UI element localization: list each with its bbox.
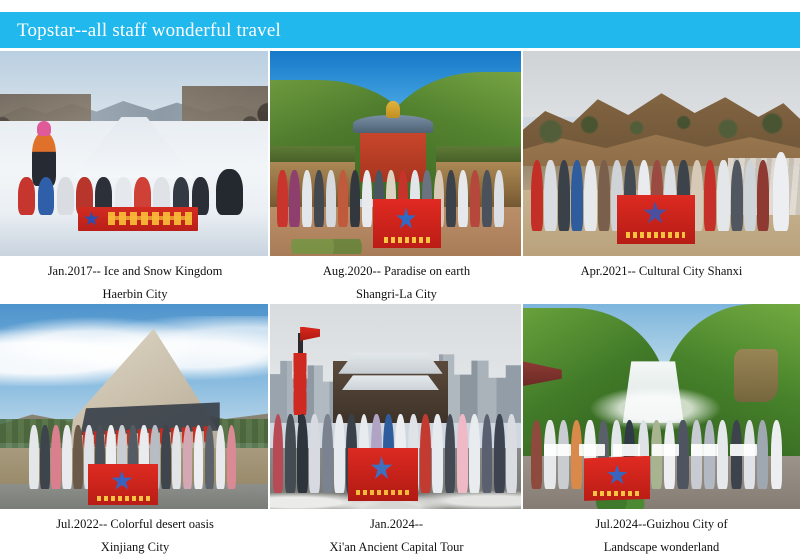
caption-xian-2024: Jan.2024-- Xi'an Ancient Capital Tour — [270, 509, 523, 557]
caption-guizhou-2024: Jul.2024--Guizhou City of Landscape wond… — [523, 509, 800, 557]
caption-line-2: Shangri-La City — [270, 283, 523, 306]
gallery-row-1: Jan.2017-- Ice and Snow Kingdom Haerbin … — [0, 51, 800, 304]
photo-xinjiang-2022[interactable] — [0, 304, 268, 509]
photo-harbin-2017[interactable] — [0, 51, 268, 256]
photo-guizhou-2024[interactable] — [523, 304, 800, 509]
company-banner — [348, 448, 418, 501]
photo-xian-2024[interactable] — [270, 304, 521, 509]
photo-gallery: Jan.2017-- Ice and Snow Kingdom Haerbin … — [0, 51, 800, 557]
slide-page: Topstar--all staff wonderful travel — [0, 0, 800, 557]
gallery-item-guizhou-2024[interactable]: Jul.2024--Guizhou City of Landscape wond… — [523, 304, 800, 557]
caption-line-1: Apr.2021-- Cultural City Shanxi — [523, 260, 800, 283]
gallery-item-shanxi-2021[interactable]: Apr.2021-- Cultural City Shanxi — [523, 51, 800, 304]
caption-line-2: Xi'an Ancient Capital Tour — [270, 536, 523, 559]
header-banner: Topstar--all staff wonderful travel — [0, 12, 800, 48]
caption-shanxi-2021: Apr.2021-- Cultural City Shanxi — [523, 256, 800, 304]
company-banner — [373, 199, 441, 248]
rock-face — [734, 349, 778, 402]
caption-line-1: Jul.2024--Guizhou City of — [523, 513, 800, 536]
page-title: Topstar--all staff wonderful travel — [0, 21, 281, 40]
gallery-item-xinjiang-2022[interactable]: Jul.2022-- Colorful desert oasis Xinjian… — [0, 304, 270, 557]
photo-shanxi-2021[interactable] — [523, 51, 800, 256]
photo-shangri-la-2020[interactable] — [270, 51, 521, 256]
caption-line-1: Jul.2022-- Colorful desert oasis — [0, 513, 270, 536]
company-banner — [78, 207, 199, 232]
gallery-row-2: Jul.2022-- Colorful desert oasis Xinjian… — [0, 304, 800, 557]
caption-line-2: Xinjiang City — [0, 536, 270, 559]
caption-line-1: Jan.2024-- — [270, 513, 523, 536]
caption-line-1: Jan.2017-- Ice and Snow Kingdom — [0, 260, 270, 283]
company-banner — [584, 456, 650, 501]
held-signs — [540, 431, 784, 456]
caption-line-2: Haerbin City — [0, 283, 270, 306]
caption-line-2: Landscape wonderland — [523, 536, 800, 559]
gallery-item-xian-2024[interactable]: Jan.2024-- Xi'an Ancient Capital Tour — [270, 304, 523, 557]
company-banner — [88, 464, 158, 505]
gallery-item-shangri-la-2020[interactable]: Aug.2020-- Paradise on earth Shangri-La … — [270, 51, 523, 304]
company-banner — [617, 195, 695, 244]
caption-xinjiang-2022: Jul.2022-- Colorful desert oasis Xinjian… — [0, 509, 270, 557]
caption-line-1: Aug.2020-- Paradise on earth — [270, 260, 523, 283]
caption-harbin-2017: Jan.2017-- Ice and Snow Kingdom Haerbin … — [0, 256, 270, 304]
gallery-item-harbin-2017[interactable]: Jan.2017-- Ice and Snow Kingdom Haerbin … — [0, 51, 270, 304]
caption-shangri-la-2020: Aug.2020-- Paradise on earth Shangri-La … — [270, 256, 523, 304]
